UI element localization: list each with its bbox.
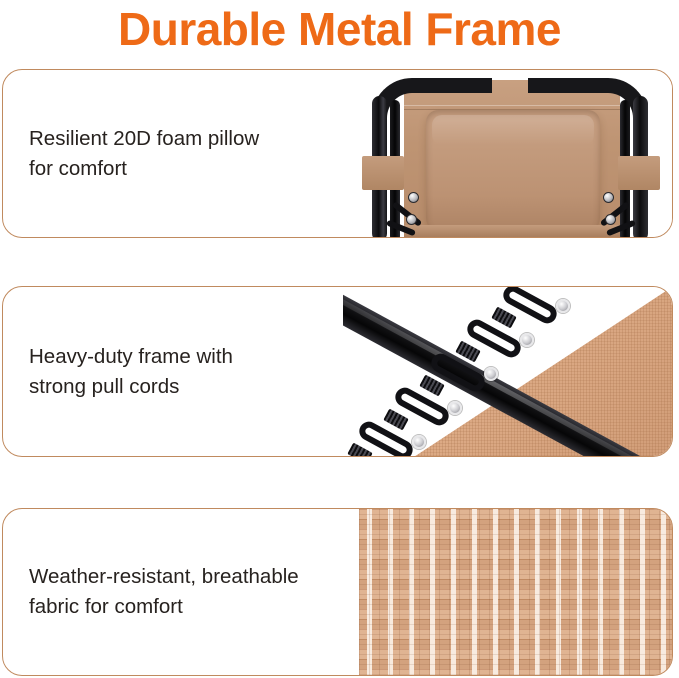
cord-spring-5 — [347, 443, 373, 456]
foam-pillow — [426, 110, 600, 232]
cord-grommet-5 — [412, 435, 426, 449]
frame-pull-cords-photo — [343, 287, 672, 456]
page-title: Durable Metal Frame — [0, 0, 679, 58]
cord-grommet-2 — [520, 333, 534, 347]
cord-grommet-1 — [556, 299, 570, 313]
pillow-strap-right — [618, 156, 660, 190]
pillow-strap-left — [362, 156, 404, 190]
feature-caption-pillow: Resilient 20D foam pillow for comfort — [29, 124, 259, 184]
feature-caption-frame: Heavy-duty frame with strong pull cords — [29, 342, 233, 402]
headrest-pillow-photo — [346, 70, 672, 237]
grommet-left-upper — [408, 192, 419, 203]
woven-fabric-closeup-photo — [359, 509, 672, 675]
cord-grommet-3 — [484, 367, 498, 381]
feature-panel-frame: Heavy-duty frame with strong pull cords — [2, 286, 673, 457]
cord-spring-1 — [491, 307, 517, 329]
grommet-left-lower — [406, 214, 417, 225]
pillow-highlight — [432, 115, 594, 145]
grommet-right-upper — [603, 192, 614, 203]
cord-grommet-4 — [448, 401, 462, 415]
feature-panel-pillow: Resilient 20D foam pillow for comfort — [2, 69, 673, 238]
feature-caption-fabric: Weather-resistant, breathable fabric for… — [29, 562, 299, 622]
headrest-base-band — [404, 225, 620, 237]
cord-spring-4 — [383, 409, 409, 431]
feature-panel-fabric: Weather-resistant, breathable fabric for… — [2, 508, 673, 676]
grommet-right-lower — [605, 214, 616, 225]
